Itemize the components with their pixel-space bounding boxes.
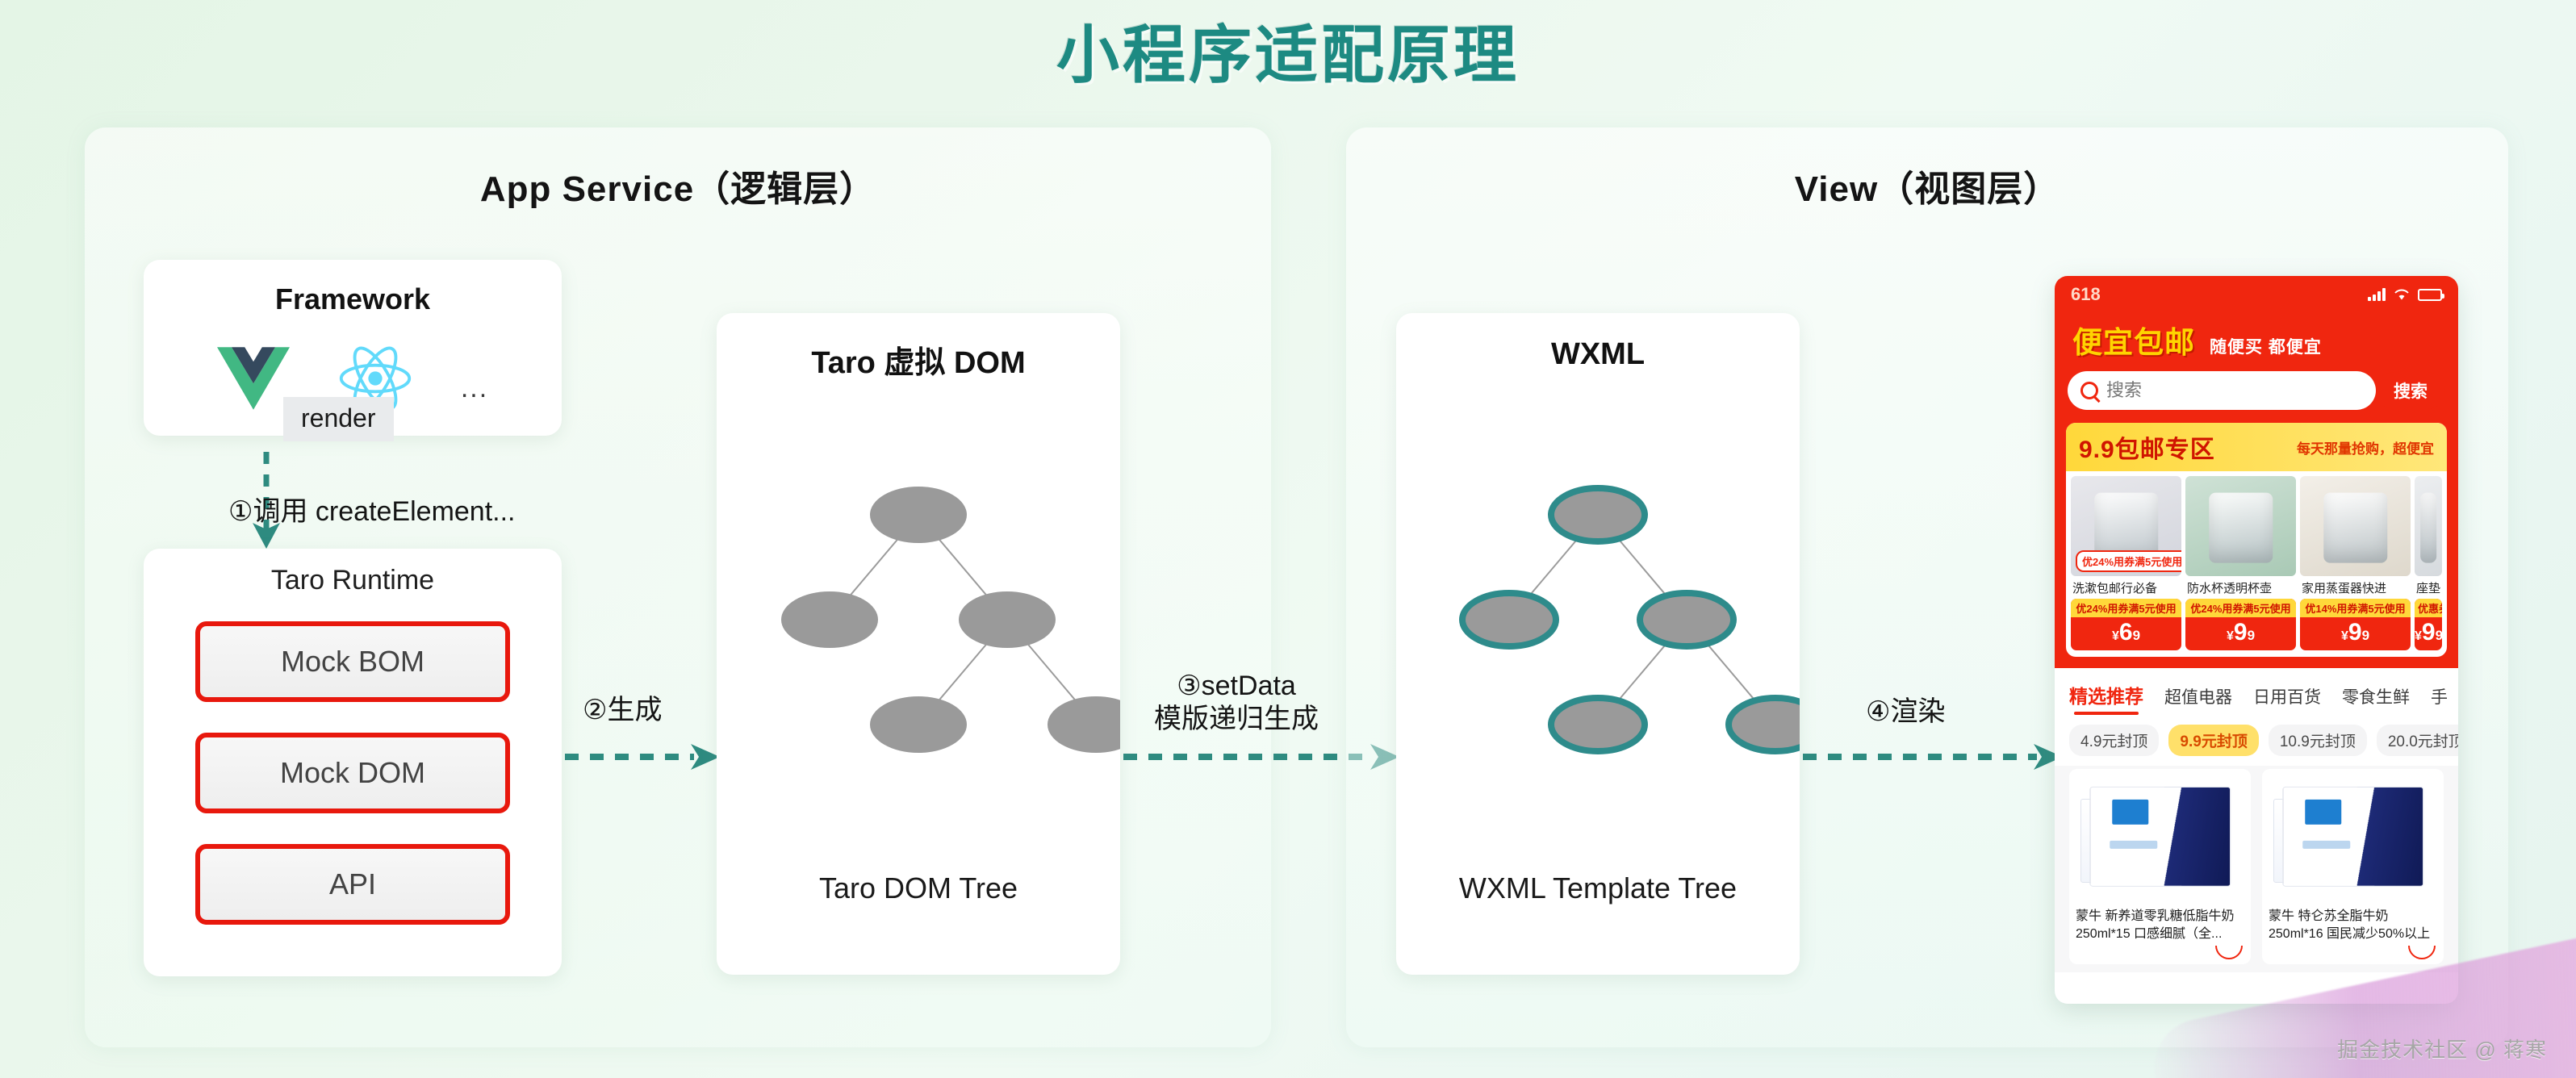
arrow-3-label-line2: 模版递归生成 [1154, 703, 1319, 736]
price-currency: ¥ [2415, 629, 2422, 643]
brand-slogan: 随便买 都便宜 [2210, 334, 2322, 358]
product-shape [2209, 493, 2273, 563]
product-image [2262, 769, 2444, 905]
wifi-icon [2393, 288, 2411, 301]
product-grid: 蒙牛 新养道零乳糖低脂牛奶 250ml*15 口感细腻（全... 蒙牛 特仑苏全… [2055, 766, 2458, 972]
heading-view: View（视图层） [1346, 160, 2508, 211]
arrow-3-label-line1: ③setData [1154, 670, 1319, 703]
promo-item-price-box: 优14%用券满5元使用 ¥99 [2300, 599, 2411, 650]
search-button[interactable]: 搜索 [2376, 372, 2445, 409]
status-icons [2368, 288, 2442, 301]
phone-mockup: 618 便宜包邮 随便买 都便宜 搜 [2055, 276, 2458, 1004]
product-shape [2420, 493, 2436, 563]
runtime-box-mock-bom: Mock BOM [195, 621, 510, 702]
promo-banner: 9.9包邮专区 每天那量抢购，超便宜 [2066, 423, 2447, 471]
arrow-4-label: ④渲染 [1866, 696, 1945, 729]
promo-item-tag: 优24%用券满5元使用 [2076, 550, 2181, 572]
price-currency: ¥ [2227, 629, 2234, 643]
phone-header: 618 便宜包邮 随便买 都便宜 搜 [2055, 276, 2458, 423]
search-icon [2080, 382, 2098, 399]
promo-item-price: ¥69 [2071, 617, 2181, 650]
promo-item[interactable]: 家用蒸蛋器快进 优14%用券满5元使用 ¥99 [2300, 476, 2411, 650]
promo-item-name: 座垫 [2415, 576, 2442, 599]
price-integer: 6 [2119, 619, 2133, 646]
promo-item-name: 洗漱包邮行必备 [2071, 576, 2181, 599]
price-filter-chip[interactable]: 9.9元封顶 [2168, 725, 2258, 756]
battery-icon [2418, 289, 2442, 301]
product-card[interactable]: 蒙牛 特仑苏全脂牛奶 250ml*16 国民减少50%以上 [2262, 769, 2444, 964]
promo-item-image [2300, 476, 2411, 576]
card-taro-virtual-dom: Taro 虚拟 DOM Taro DOM Tree [717, 313, 1120, 975]
promo-item-price-box: 优24%用券满5元使用 ¥69 [2071, 599, 2181, 650]
wxml-template-tree-graphic [1396, 458, 1800, 821]
signal-icon [2368, 288, 2386, 301]
price-integer: 9 [2234, 619, 2248, 646]
category-tab-more[interactable]: 手 [2431, 684, 2448, 715]
taro-dom-tree-caption: Taro DOM Tree [717, 871, 1120, 905]
taro-vdom-title: Taro 虚拟 DOM [717, 337, 1120, 382]
arrow-2-label: ②生成 [583, 694, 662, 727]
brand-name: 便宜包邮 [2072, 318, 2195, 361]
promo-item-name: 家用蒸蛋器快进 [2300, 576, 2411, 599]
phone-search-row: 搜索 [2055, 371, 2458, 423]
status-time: 618 [2071, 284, 2101, 305]
promo-item-coupon: 优24%用券满5元使用 [2185, 599, 2296, 617]
framework-ellipsis: ... [461, 373, 488, 404]
promo-item-price: ¥99 [2185, 617, 2296, 650]
price-currency: ¥ [2112, 629, 2119, 643]
price-decimal: 9 [2362, 628, 2369, 643]
milk-box-shape [2089, 787, 2231, 887]
product-footer [2069, 942, 2251, 959]
arrow-4-render [1803, 741, 2063, 773]
promo-item-image [2415, 476, 2442, 576]
card-taro-runtime: Taro Runtime Mock BOM Mock DOM API [144, 549, 562, 976]
arrow-1-label: ①调用 createElement... [228, 495, 516, 529]
product-name: 蒙牛 特仑苏全脂牛奶 250ml*16 国民减少50%以上 [2262, 905, 2444, 942]
promo-item-image [2185, 476, 2296, 576]
promo-item-coupon: 优惠券 [2415, 599, 2442, 617]
product-footer [2262, 942, 2444, 959]
price-filter-chip[interactable]: 4.9元封顶 [2069, 725, 2159, 756]
arrow-3-label: ③setData 模版递归生成 [1154, 670, 1319, 737]
promo-item[interactable]: 座垫 优惠券 ¥99 [2415, 476, 2442, 650]
category-tabs: 精选推荐 超值电器 日用百货 零食生鲜 手 [2055, 668, 2458, 718]
promo-item[interactable]: 防水杯透明杯壶 优24%用券满5元使用 ¥99 [2185, 476, 2296, 650]
price-integer: 9 [2348, 619, 2362, 646]
wxml-title: WXML [1396, 337, 1800, 372]
taro-dom-tree-graphic [717, 458, 1120, 821]
product-name: 蒙牛 新养道零乳糖低脂牛奶 250ml*15 口感细腻（全... [2069, 905, 2251, 942]
wxml-template-tree-caption: WXML Template Tree [1396, 871, 1800, 905]
vue-logo-icon [217, 346, 290, 411]
category-tab-featured[interactable]: 精选推荐 [2069, 681, 2143, 715]
diagram-canvas: 小程序适配原理 App Service（逻辑层） Framework ... r… [0, 0, 2576, 1078]
promo-item-price: ¥99 [2415, 617, 2442, 650]
price-decimal: 9 [2248, 628, 2255, 643]
promo-item-coupon: 优14%用券满5元使用 [2300, 599, 2411, 617]
promo-title: 9.9包邮专区 [2079, 429, 2215, 465]
promo-card: 9.9包邮专区 每天那量抢购，超便宜 优24%用券满5元使用 洗漱包邮行必备 优… [2066, 423, 2447, 657]
phone-statusbar: 618 [2055, 276, 2458, 313]
price-filter-chip[interactable]: 10.9元封顶 [2269, 725, 2367, 756]
promo-item-name: 防水杯透明杯壶 [2185, 576, 2296, 599]
category-tab-daily-goods[interactable]: 日用百货 [2253, 684, 2321, 715]
product-image [2069, 769, 2251, 905]
price-filter-row: 4.9元封顶 9.9元封顶 10.9元封顶 20.0元封顶 [2055, 718, 2458, 766]
price-decimal: 9 [2436, 628, 2442, 643]
promo-item-price: ¥99 [2300, 617, 2411, 650]
runtime-box-mock-dom: Mock DOM [195, 733, 510, 813]
promo-subtitle: 每天那量抢购，超便宜 [2297, 437, 2434, 458]
page-title: 小程序适配原理 [0, 5, 2576, 95]
search-bar[interactable] [2068, 371, 2376, 410]
promo-item-image: 优24%用券满5元使用 [2071, 476, 2181, 576]
search-input[interactable] [2106, 380, 2368, 401]
cart-icon[interactable] [2215, 946, 2243, 959]
promo-section: 9.9包邮专区 每天那量抢购，超便宜 优24%用券满5元使用 洗漱包邮行必备 优… [2055, 423, 2458, 668]
promo-item-price-box: 优惠券 ¥99 [2415, 599, 2442, 650]
runtime-box-api: API [195, 844, 510, 925]
promo-item-list: 优24%用券满5元使用 洗漱包邮行必备 优24%用券满5元使用 ¥69 [2066, 471, 2447, 657]
arrow-2-generate [565, 741, 720, 773]
phone-brand-row: 便宜包邮 随便买 都便宜 [2055, 313, 2458, 371]
taro-runtime-title: Taro Runtime [144, 565, 562, 596]
category-tab-appliances[interactable]: 超值电器 [2164, 684, 2232, 715]
price-currency: ¥ [2341, 629, 2348, 643]
category-tab-snacks-fresh[interactable]: 零食生鲜 [2342, 684, 2410, 715]
product-card[interactable]: 蒙牛 新养道零乳糖低脂牛奶 250ml*15 口感细腻（全... [2069, 769, 2251, 964]
render-label: render [283, 397, 394, 441]
card-wxml: WXML WXML Template Tree [1396, 313, 1800, 975]
milk-box-shape [2282, 787, 2424, 887]
promo-item-coupon: 优24%用券满5元使用 [2071, 599, 2181, 617]
promo-item-price-box: 优24%用券满5元使用 ¥99 [2185, 599, 2296, 650]
price-integer: 9 [2422, 619, 2436, 646]
price-filter-chip[interactable]: 20.0元封顶 [2377, 725, 2458, 756]
framework-title: Framework [144, 282, 562, 316]
price-decimal: 9 [2133, 628, 2140, 643]
product-shape [2323, 493, 2387, 563]
cart-icon[interactable] [2408, 946, 2436, 959]
heading-app-service: App Service（逻辑层） [85, 160, 1271, 211]
promo-item[interactable]: 优24%用券满5元使用 洗漱包邮行必备 优24%用券满5元使用 ¥69 [2071, 476, 2181, 650]
watermark: 掘金技术社区 @ 蒋寒 [2337, 1034, 2547, 1063]
